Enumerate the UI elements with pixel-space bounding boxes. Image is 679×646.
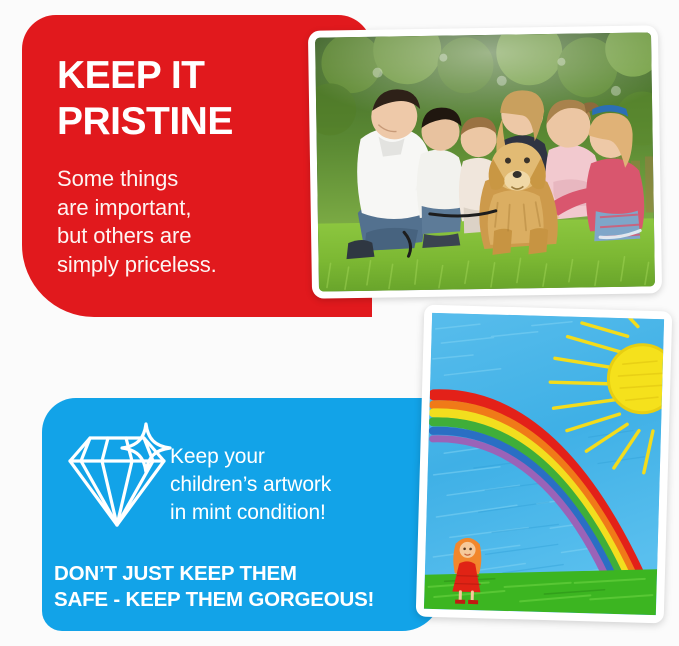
blue-copy-line-1: Keep your <box>170 443 440 471</box>
blue-panel-cta: DON’T JUST KEEP THEM SAFE - KEEP THEM GO… <box>54 561 444 613</box>
diamond-sparkle-icon <box>60 420 182 540</box>
headline-line-2: PRISTINE <box>57 99 347 145</box>
blue-message-panel: Keep your children’s artwork in mint con… <box>42 398 442 631</box>
childrens-artwork-card <box>416 305 673 624</box>
blue-copy-line-3: in mint condition! <box>170 499 440 527</box>
cta-line-1: DON’T JUST KEEP THEM <box>54 561 444 587</box>
page-title: KEEP IT PRISTINE <box>57 53 347 145</box>
headline-line-1: KEEP IT <box>57 53 347 99</box>
family-with-dog-photo-card <box>308 25 662 298</box>
blue-panel-copy: Keep your children’s artwork in mint con… <box>170 443 440 527</box>
blue-copy-line-2: children’s artwork <box>170 471 440 499</box>
family-with-dog-photo <box>315 32 655 291</box>
infographic-canvas: KEEP IT PRISTINE Some things are importa… <box>0 0 679 646</box>
childrens-crayon-rainbow-drawing <box>424 313 664 615</box>
cta-line-2: SAFE - KEEP THEM GORGEOUS! <box>54 587 444 613</box>
